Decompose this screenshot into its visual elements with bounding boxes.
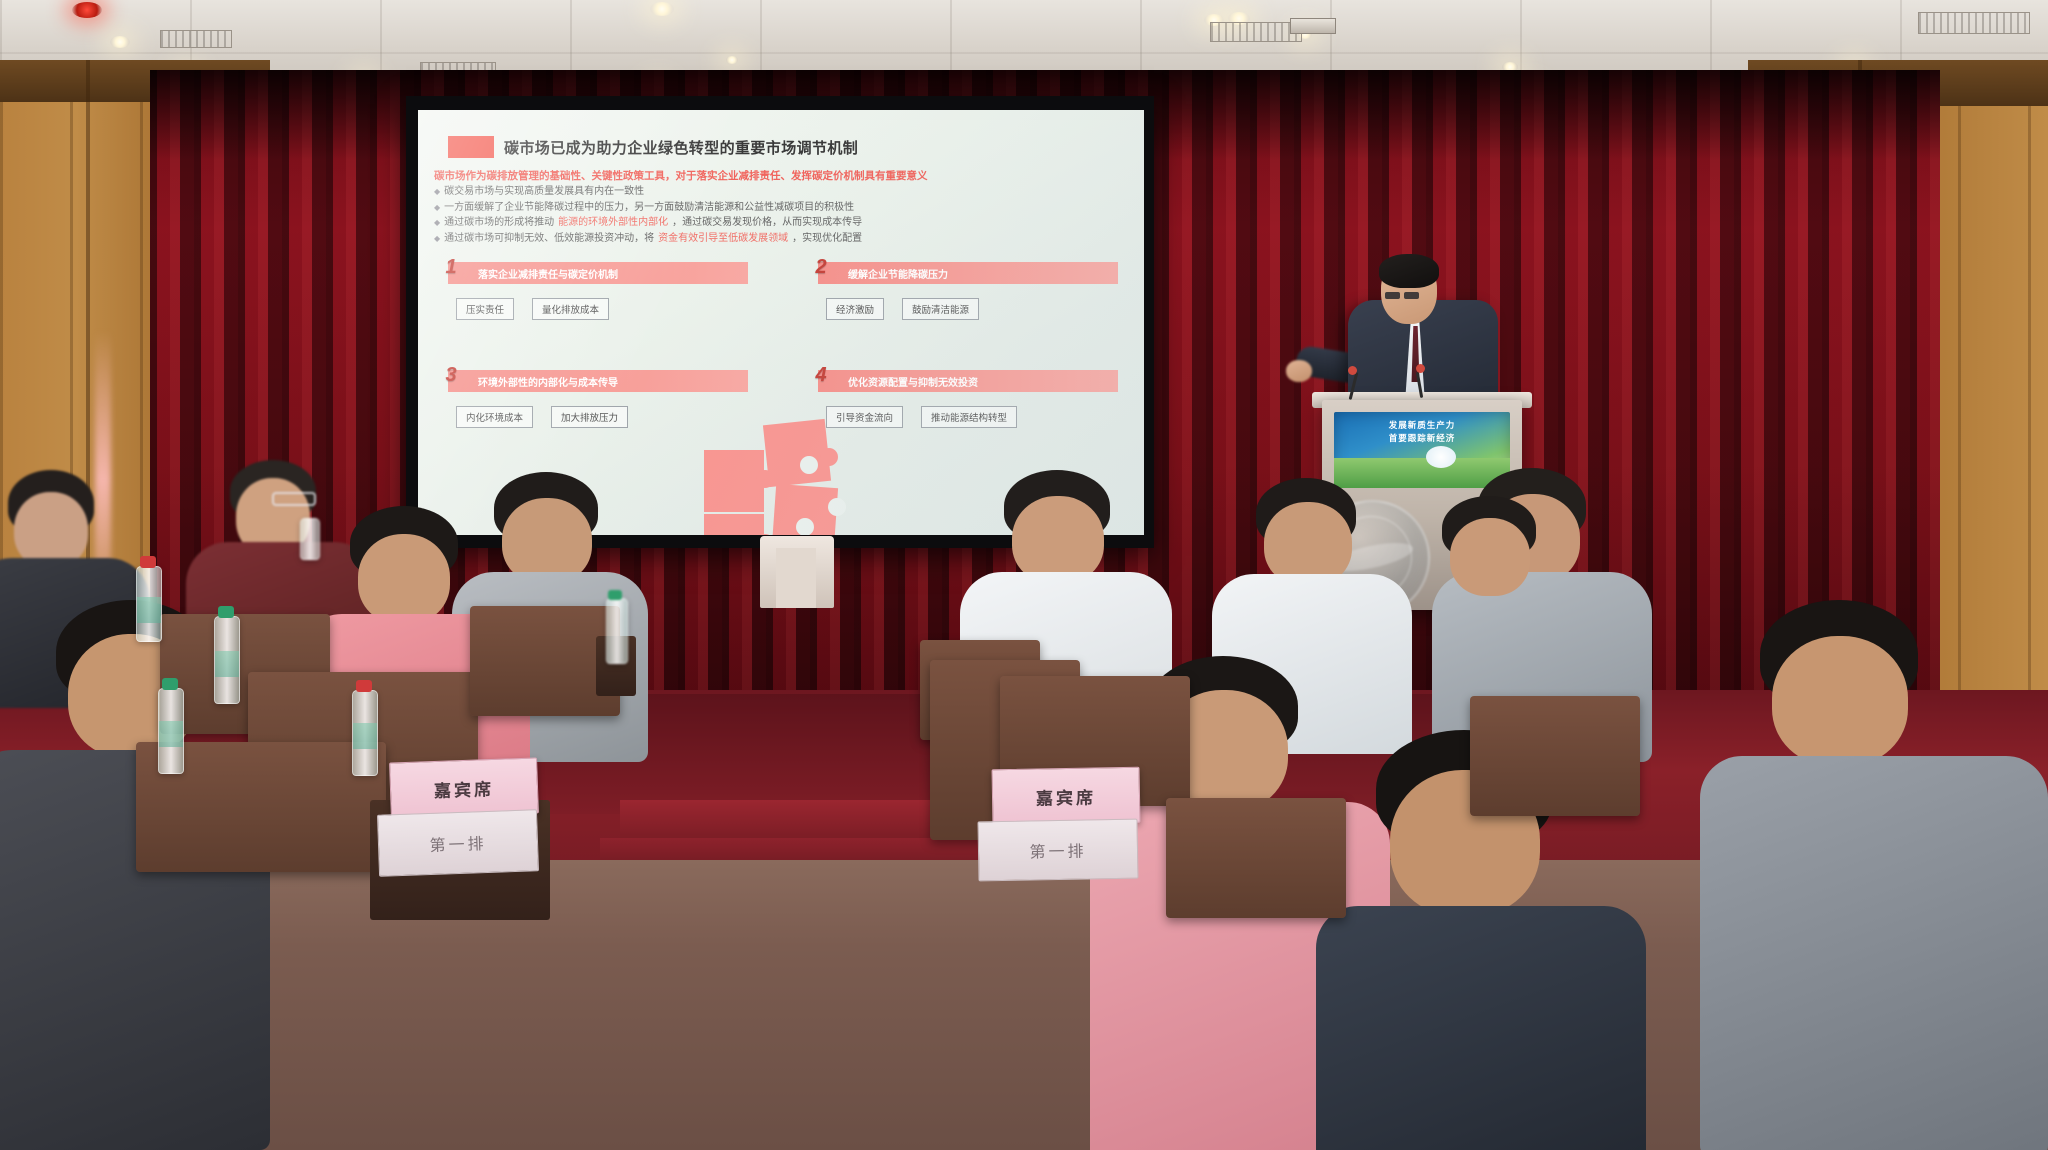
- water-bottle: [214, 616, 240, 704]
- ceiling-light-red: [72, 2, 102, 18]
- guest-name-card: 嘉宾席: [992, 767, 1141, 826]
- ceiling-light: [650, 2, 674, 16]
- section-heading: 环境外部性的内部化与成本传导: [478, 374, 618, 389]
- ceiling-light: [726, 56, 738, 64]
- torso: [1316, 906, 1646, 1150]
- slide-section-4: 4 优化资源配置与抑制无效投资 引导资金流向 推动能源结构转型: [818, 370, 1118, 428]
- ceiling-vent: [1918, 12, 2030, 34]
- ceiling-spotlight-box: [1290, 18, 1336, 34]
- auditorium-scene: 碳市场已成为助力企业绿色转型的重要市场调节机制 碳市场作为碳排放管理的基础性、关…: [0, 0, 2048, 1150]
- eyeglasses: [272, 492, 316, 506]
- section-box: 内化环境成本: [456, 406, 533, 428]
- head: [1450, 518, 1530, 596]
- puzzle-pieces-graphic: [704, 422, 854, 535]
- slide-lead-text: 碳市场作为碳排放管理的基础性、关键性政策工具，对于落实企业减排责任、发挥碳定价机…: [434, 168, 1134, 183]
- bottle-cap: [140, 556, 156, 568]
- section-header: 2 缓解企业节能降碳压力: [818, 262, 1118, 284]
- head: [358, 534, 450, 624]
- bottle-label: [137, 597, 161, 623]
- diamond-bullet-icon: ◆: [434, 184, 440, 200]
- bottle-label: [215, 651, 239, 677]
- screen-stand-post: [776, 548, 816, 608]
- section-boxes: 内化环境成本 加大排放压力: [448, 406, 748, 428]
- list-item: ◆ 通过碳市场可抑制无效、低效能源投资冲动，将资金有效引导至低碳发展领域，实现优…: [434, 231, 1140, 247]
- diamond-bullet-icon: ◆: [434, 200, 440, 216]
- speaker-hand: [1286, 360, 1312, 382]
- podium-banner: 发展新质生产力 首要跟踪新经济: [1334, 412, 1510, 488]
- section-header: 3 环境外部性的内部化与成本传导: [448, 370, 748, 392]
- puzzle-piece: [704, 450, 764, 512]
- water-bottle: [158, 688, 184, 774]
- section-box: 加大排放压力: [551, 406, 628, 428]
- slide-section-2: 2 缓解企业节能降碳压力 经济激励 鼓励清洁能源: [818, 262, 1118, 320]
- section-box: 量化排放成本: [532, 298, 609, 320]
- head: [1012, 496, 1104, 584]
- section-box: 推动能源结构转型: [921, 406, 1017, 428]
- puzzle-knob: [756, 470, 774, 488]
- banner-landscape: [1334, 458, 1510, 488]
- puzzle-knob: [820, 448, 838, 466]
- speaker-glasses: [1385, 292, 1400, 299]
- chair: [1470, 696, 1640, 816]
- banner-sun-icon: [1426, 446, 1456, 468]
- list-item: ◆ 通过碳市场的形成将推动能源的环境外部性内部化，通过碳交易发现价格，从而实现成…: [434, 215, 1140, 231]
- guest-name-card-secondary: 第一排: [377, 809, 539, 877]
- guest-name-card-text: 嘉宾席: [1036, 783, 1096, 809]
- section-box: 经济激励: [826, 298, 884, 320]
- bullet-text: 通过碳市场的形成将推动: [444, 215, 554, 231]
- bullet-text: 通过碳市场可抑制无效、低效能源投资冲动，将: [444, 231, 654, 247]
- microphone-head-icon: [1416, 364, 1425, 373]
- ceiling-vent: [160, 30, 232, 48]
- diamond-bullet-icon: ◆: [434, 215, 440, 231]
- list-item: ◆ 碳交易市场与实现高质量发展具有内在一致性: [434, 184, 1140, 200]
- slide-bullet-list: ◆ 碳交易市场与实现高质量发展具有内在一致性 ◆ 一方面缓解了企业节能降碳过程中…: [434, 184, 1140, 246]
- slide-title-row: 碳市场已成为助力企业绿色转型的重要市场调节机制: [448, 136, 858, 158]
- guest-name-card-secondary: 第一排: [977, 819, 1138, 882]
- section-number: 2: [810, 254, 832, 280]
- section-header: 1 落实企业减排责任与碳定价机制: [448, 262, 748, 284]
- slide-section-1: 1 落实企业减排责任与碳定价机制 压实责任 量化排放成本: [448, 262, 748, 320]
- section-box: 鼓励清洁能源: [902, 298, 979, 320]
- guest-name-card-secondary-text: 第一排: [1029, 838, 1086, 863]
- speaker-glasses: [1404, 292, 1419, 299]
- speaker-hair: [1379, 254, 1439, 288]
- torso: [1700, 756, 2048, 1150]
- bottle-cap: [356, 680, 372, 692]
- puzzle-piece: [704, 514, 764, 535]
- banner-line-2: 首要跟踪新经济: [1334, 432, 1510, 444]
- head: [1772, 636, 1908, 766]
- water-bottle: [606, 598, 628, 664]
- bottle-cap: [218, 606, 234, 618]
- ceiling-light: [110, 36, 130, 48]
- chair: [1166, 798, 1346, 918]
- section-header: 4 优化资源配置与抑制无效投资: [818, 370, 1118, 392]
- puzzle-notch: [800, 456, 818, 474]
- section-boxes: 经济激励 鼓励清洁能源: [818, 298, 1118, 320]
- section-heading: 缓解企业节能降碳压力: [848, 266, 948, 281]
- slide-section-3: 3 环境外部性的内部化与成本传导 内化环境成本 加大排放压力: [448, 370, 748, 428]
- head: [14, 492, 88, 568]
- presentation-slide: 碳市场已成为助力企业绿色转型的重要市场调节机制 碳市场作为碳排放管理的基础性、关…: [418, 110, 1144, 535]
- bullet-text-post: ，实现优化配置: [792, 231, 862, 247]
- projection-screen: 碳市场已成为助力企业绿色转型的重要市场调节机制 碳市场作为碳排放管理的基础性、关…: [418, 110, 1144, 535]
- bullet-text: 碳交易市场与实现高质量发展具有内在一致性: [444, 184, 644, 200]
- section-heading: 落实企业减排责任与碳定价机制: [478, 266, 618, 281]
- section-number: 3: [440, 362, 462, 388]
- diamond-bullet-icon: ◆: [434, 231, 440, 247]
- puzzle-notch: [828, 498, 846, 516]
- bullet-highlight: 能源的环境外部性内部化: [558, 215, 668, 231]
- bullet-highlight: 资金有效引导至低碳发展领域: [658, 231, 788, 247]
- slide-sections: 1 落实企业减排责任与碳定价机制 压实责任 量化排放成本 2 缓解企业节能降碳压…: [434, 262, 1134, 472]
- section-heading: 优化资源配置与抑制无效投资: [848, 374, 978, 389]
- guest-name-card-text: 嘉宾席: [434, 774, 495, 801]
- guest-name-card-secondary-text: 第一排: [429, 830, 487, 856]
- slide-title: 碳市场已成为助力企业绿色转型的重要市场调节机制: [504, 137, 858, 158]
- bottle-label: [159, 721, 183, 747]
- banner-line-1: 发展新质生产力: [1334, 419, 1510, 431]
- bottle-cap: [162, 678, 178, 690]
- water-bottle: [352, 690, 378, 776]
- bullet-text-post: ，通过碳交易发现价格，从而实现成本传导: [672, 215, 862, 231]
- ceiling-vent: [1210, 22, 1302, 42]
- water-bottle: [300, 518, 320, 560]
- section-boxes: 引导资金流向 推动能源结构转型: [818, 406, 1118, 428]
- bottle-label: [353, 723, 377, 749]
- bullet-text: 一方面缓解了企业节能降碳过程中的压力，另一方面鼓励清洁能源和公益性减碳项目的积极…: [444, 200, 854, 216]
- section-boxes: 压实责任 量化排放成本: [448, 298, 748, 320]
- puzzle-notch: [796, 518, 814, 535]
- water-bottle: [136, 566, 162, 642]
- section-number: 4: [810, 362, 832, 388]
- section-number: 1: [440, 254, 462, 280]
- list-item: ◆ 一方面缓解了企业节能降碳过程中的压力，另一方面鼓励清洁能源和公益性减碳项目的…: [434, 200, 1140, 216]
- title-accent-block: [448, 136, 494, 158]
- bottle-cap: [608, 590, 622, 600]
- section-box: 压实责任: [456, 298, 514, 320]
- microphone-head-icon: [1348, 366, 1357, 375]
